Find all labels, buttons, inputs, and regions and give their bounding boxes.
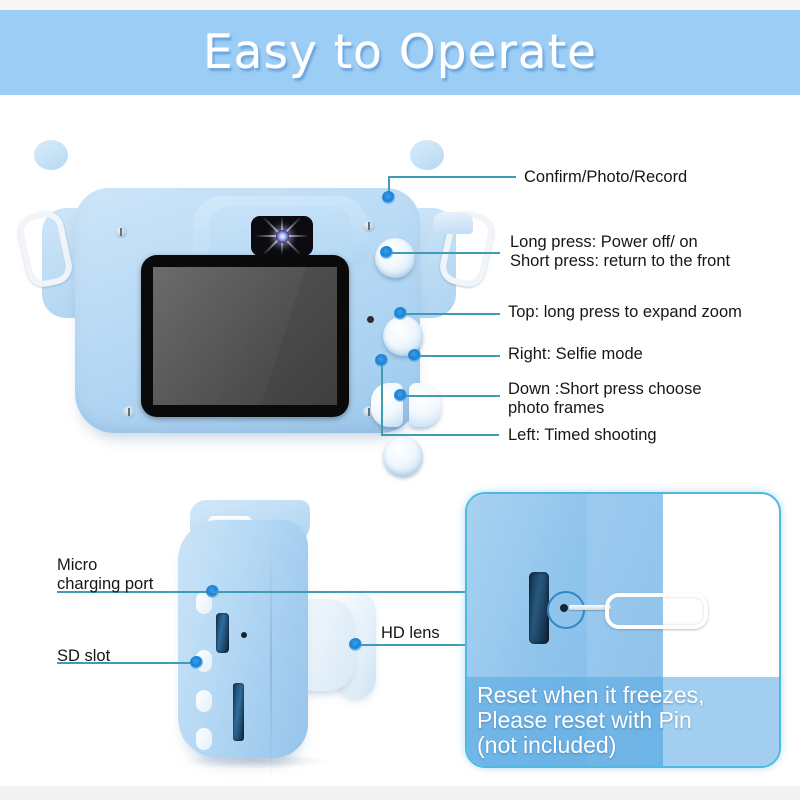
top-edge-strip [0,0,800,10]
annotation-right: Right: Selfie mode [508,345,643,364]
lens-core-icon [276,230,289,243]
lcd-bezel [141,255,349,417]
side-seam-line [270,550,272,778]
screen-glare [153,267,310,405]
annotation-power: Long press: Power off/ on Short press: r… [510,233,730,271]
detail-caption: Reset when it freezes, Please reset with… [467,677,779,766]
header-banner: Easy to Operate [0,10,800,95]
detail-usb-port [529,572,549,644]
left-loop-knob [34,140,68,170]
screw-top-left-icon [115,226,127,238]
leader-reset-to-detail [212,591,474,593]
side-button-3[interactable] [196,690,212,712]
leader-down [400,395,500,397]
camera-hump-inner [209,206,352,262]
camera-back-illustration [20,150,490,450]
camera-side-illustration [150,495,400,765]
reset-detail-callout: Reset when it freezes, Please reset with… [465,492,781,768]
leader-left-elbow [381,360,383,434]
camera-body [75,188,420,433]
leader-right [414,355,500,357]
shutter-button[interactable] [433,212,473,234]
right-button[interactable] [409,383,441,427]
page-title: Easy to Operate [203,25,597,80]
screw-top-right-icon [363,220,375,232]
down-button[interactable] [383,436,423,476]
marker-power [380,246,393,259]
annotation-left: Left: Timed shooting [508,426,657,445]
pin-tool-ring-icon [605,593,708,629]
bottom-edge-strip [0,786,800,800]
power-button[interactable] [375,238,415,278]
annotation-sd-slot: SD slot [57,647,110,666]
screw-bottom-left-icon [123,406,135,418]
micro-usb-port [216,613,229,653]
marker-right [408,349,421,362]
leader-hd-lens [355,644,465,646]
annotation-micro-port: Micro charging port [57,556,153,594]
right-loop-knob [410,140,444,170]
marker-left [375,354,388,367]
marker-sd-slot [190,656,203,669]
reset-pinhole[interactable] [241,632,247,638]
side-button-4[interactable] [196,728,212,750]
detail-reset-pinhole [560,604,568,612]
infographic-page: Easy to Operate [0,0,800,800]
annotation-shutter: Confirm/Photo/Record [524,168,687,187]
leader-power [386,252,500,254]
leader-up [400,313,500,315]
marker-up [394,307,407,320]
status-led-icon [367,316,374,323]
annotation-up: Top: long press to expand zoom [508,303,742,322]
lcd-screen [153,267,337,405]
leader-left [381,434,499,436]
marker-hd-lens [349,638,362,651]
side-body [178,520,308,758]
selfie-lens-icon [251,216,313,256]
annotation-down: Down :Short press choose photo frames [508,380,702,418]
marker-shutter [382,191,395,204]
marker-down [394,389,407,402]
annotation-hd-lens: HD lens [381,624,440,643]
sd-card-slot [233,683,244,741]
leader-shutter [388,176,516,178]
